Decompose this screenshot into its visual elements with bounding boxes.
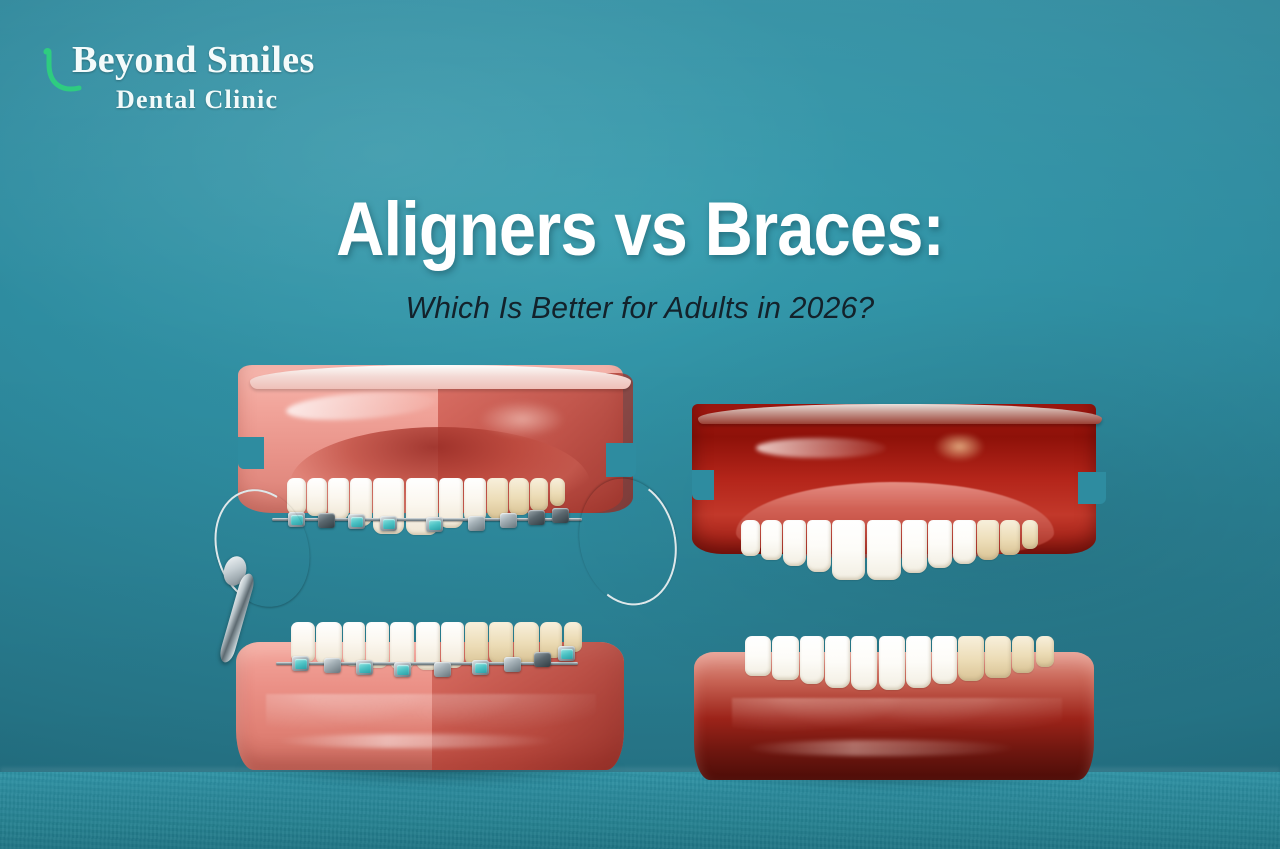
upper-jaw-notch-right <box>1078 472 1106 504</box>
tooth <box>928 520 952 568</box>
tooth <box>832 520 865 580</box>
tooth <box>902 520 927 573</box>
upper-jaw-rim <box>250 365 631 389</box>
tooth <box>932 636 957 684</box>
brand-name: Beyond Smiles <box>72 38 315 82</box>
dental-model-aligner <box>684 400 1108 792</box>
bracket <box>380 516 397 531</box>
tooth <box>772 636 799 680</box>
tooth <box>953 520 976 564</box>
dental-banner: Beyond Smiles Dental Clinic Aligners vs … <box>0 0 1280 849</box>
bracket <box>468 516 485 531</box>
brand-tagline: Dental Clinic <box>116 85 278 115</box>
bracket <box>472 660 489 675</box>
tooth <box>550 478 565 506</box>
upper-jaw-gloss <box>474 401 594 453</box>
bracket <box>356 660 373 675</box>
upper-jaw-notch-right <box>606 443 636 477</box>
bracket <box>552 508 569 523</box>
lower-teeth-row <box>744 636 1054 690</box>
upper-teeth-row <box>740 520 1038 580</box>
tooth <box>783 520 806 566</box>
tooth <box>1000 520 1020 555</box>
bracket <box>324 658 341 673</box>
upper-jaw-notch-left <box>238 437 264 469</box>
tooth <box>509 478 529 515</box>
page-subtitle: Which Is Better for Adults in 2026? <box>19 288 1261 328</box>
bracket <box>528 510 545 525</box>
upper-jaw-notch-left <box>692 470 714 500</box>
tooth <box>745 636 771 676</box>
tooth <box>1012 636 1034 673</box>
tooth <box>867 520 901 580</box>
lower-jaw-highlight <box>276 734 556 748</box>
lower-jaw-scallop <box>732 698 1062 738</box>
bracket <box>500 513 517 528</box>
tooth <box>825 636 850 688</box>
upper-jaw-highlight <box>285 388 436 424</box>
archwire-lower <box>276 662 578 665</box>
bracket <box>318 513 335 528</box>
bracket <box>558 646 575 661</box>
bracket <box>434 662 451 677</box>
bracket <box>534 652 551 667</box>
tooth <box>1022 520 1038 549</box>
bracket <box>348 514 365 529</box>
tooth <box>800 636 824 684</box>
tooth <box>906 636 931 688</box>
tooth <box>985 636 1011 678</box>
upper-jaw-rim <box>698 404 1102 424</box>
tooth <box>1036 636 1054 667</box>
lower-jaw-highlight <box>746 740 1016 756</box>
tooth <box>977 520 999 560</box>
tooth <box>530 478 548 511</box>
tooth <box>851 636 877 690</box>
tooth <box>879 636 905 690</box>
bracket <box>292 656 309 671</box>
dental-model-braces <box>228 360 648 790</box>
tooth <box>761 520 782 560</box>
brand-logo[interactable]: Beyond Smiles Dental Clinic <box>34 38 364 134</box>
upper-jaw-gloss <box>928 434 998 476</box>
bracket <box>426 517 443 532</box>
tooth <box>807 520 831 572</box>
bracket <box>504 657 521 672</box>
upper-jaw-highlight <box>756 438 886 458</box>
tooth <box>741 520 760 556</box>
bracket <box>394 662 411 677</box>
lower-jaw-scallop <box>266 694 596 738</box>
page-title: Aligners vs Braces: <box>77 182 1203 278</box>
tooth <box>307 478 327 516</box>
tooth <box>958 636 984 681</box>
